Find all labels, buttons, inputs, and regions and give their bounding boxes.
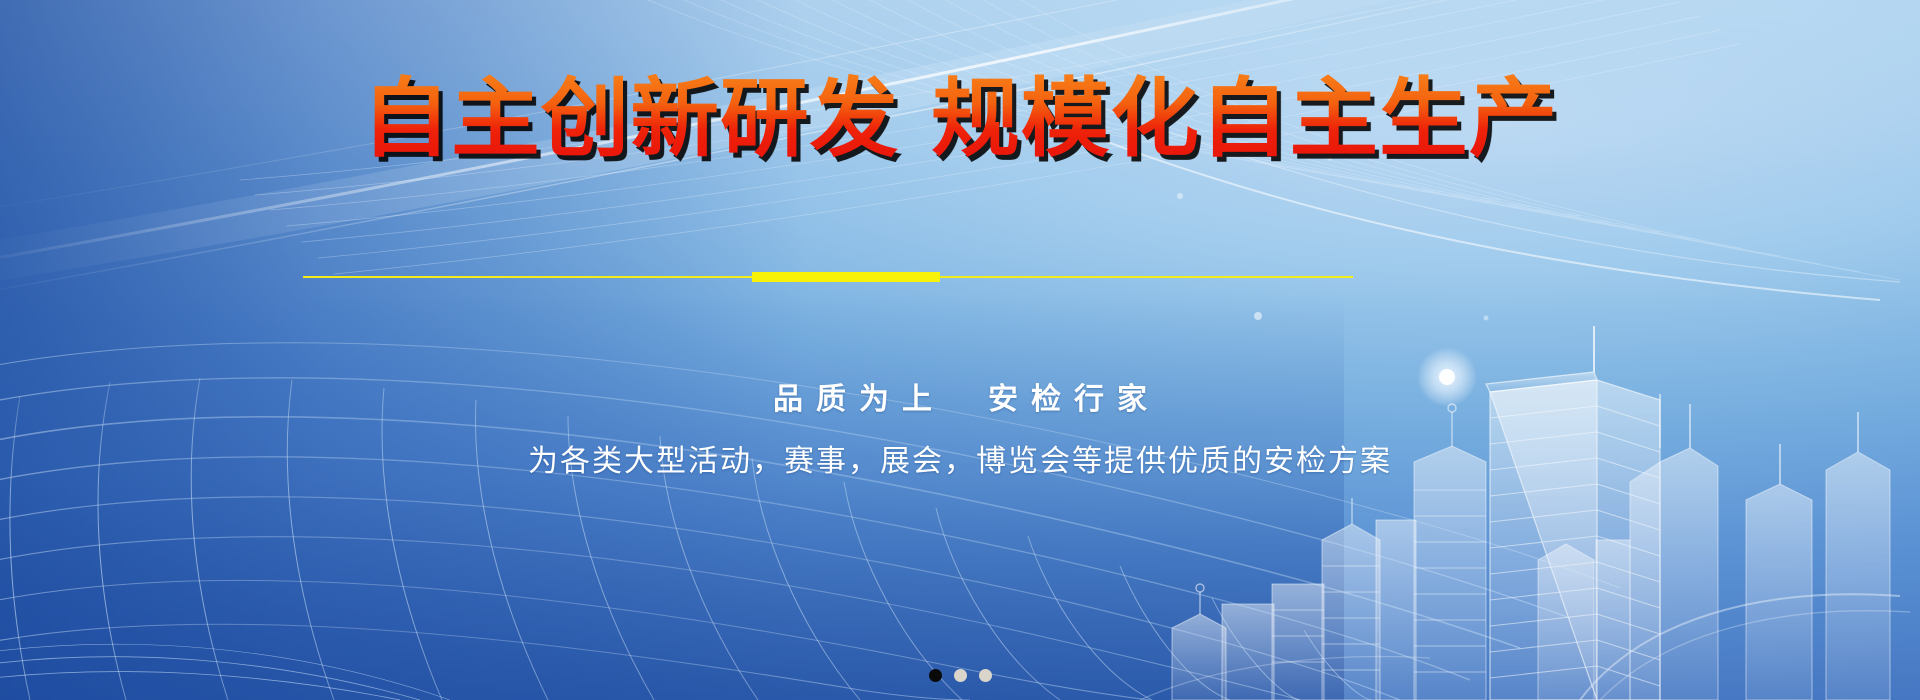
headline-container: 自主创新研发 规模化自主生产 [0, 74, 1920, 164]
hero-banner: 自主创新研发 规模化自主生产 品质为上 安检行家 为各类大型活动，赛事，展会，博… [0, 0, 1920, 700]
yellow-divider [303, 272, 1353, 282]
carousel-indicators[interactable] [0, 669, 1920, 682]
divider-thick-accent [752, 272, 940, 282]
banner-headline: 自主创新研发 规模化自主生产 [362, 74, 1559, 164]
subtitle-primary: 品质为上 安检行家 [0, 380, 1920, 419]
subtitle-secondary: 为各类大型活动，赛事，展会，博览会等提供优质的安检方案 [0, 441, 1920, 483]
carousel-dot-1[interactable] [929, 669, 942, 682]
subtitle-container: 品质为上 安检行家 为各类大型活动，赛事，展会，博览会等提供优质的安检方案 [0, 380, 1920, 483]
carousel-dot-2[interactable] [954, 669, 967, 682]
carousel-dot-3[interactable] [979, 669, 992, 682]
